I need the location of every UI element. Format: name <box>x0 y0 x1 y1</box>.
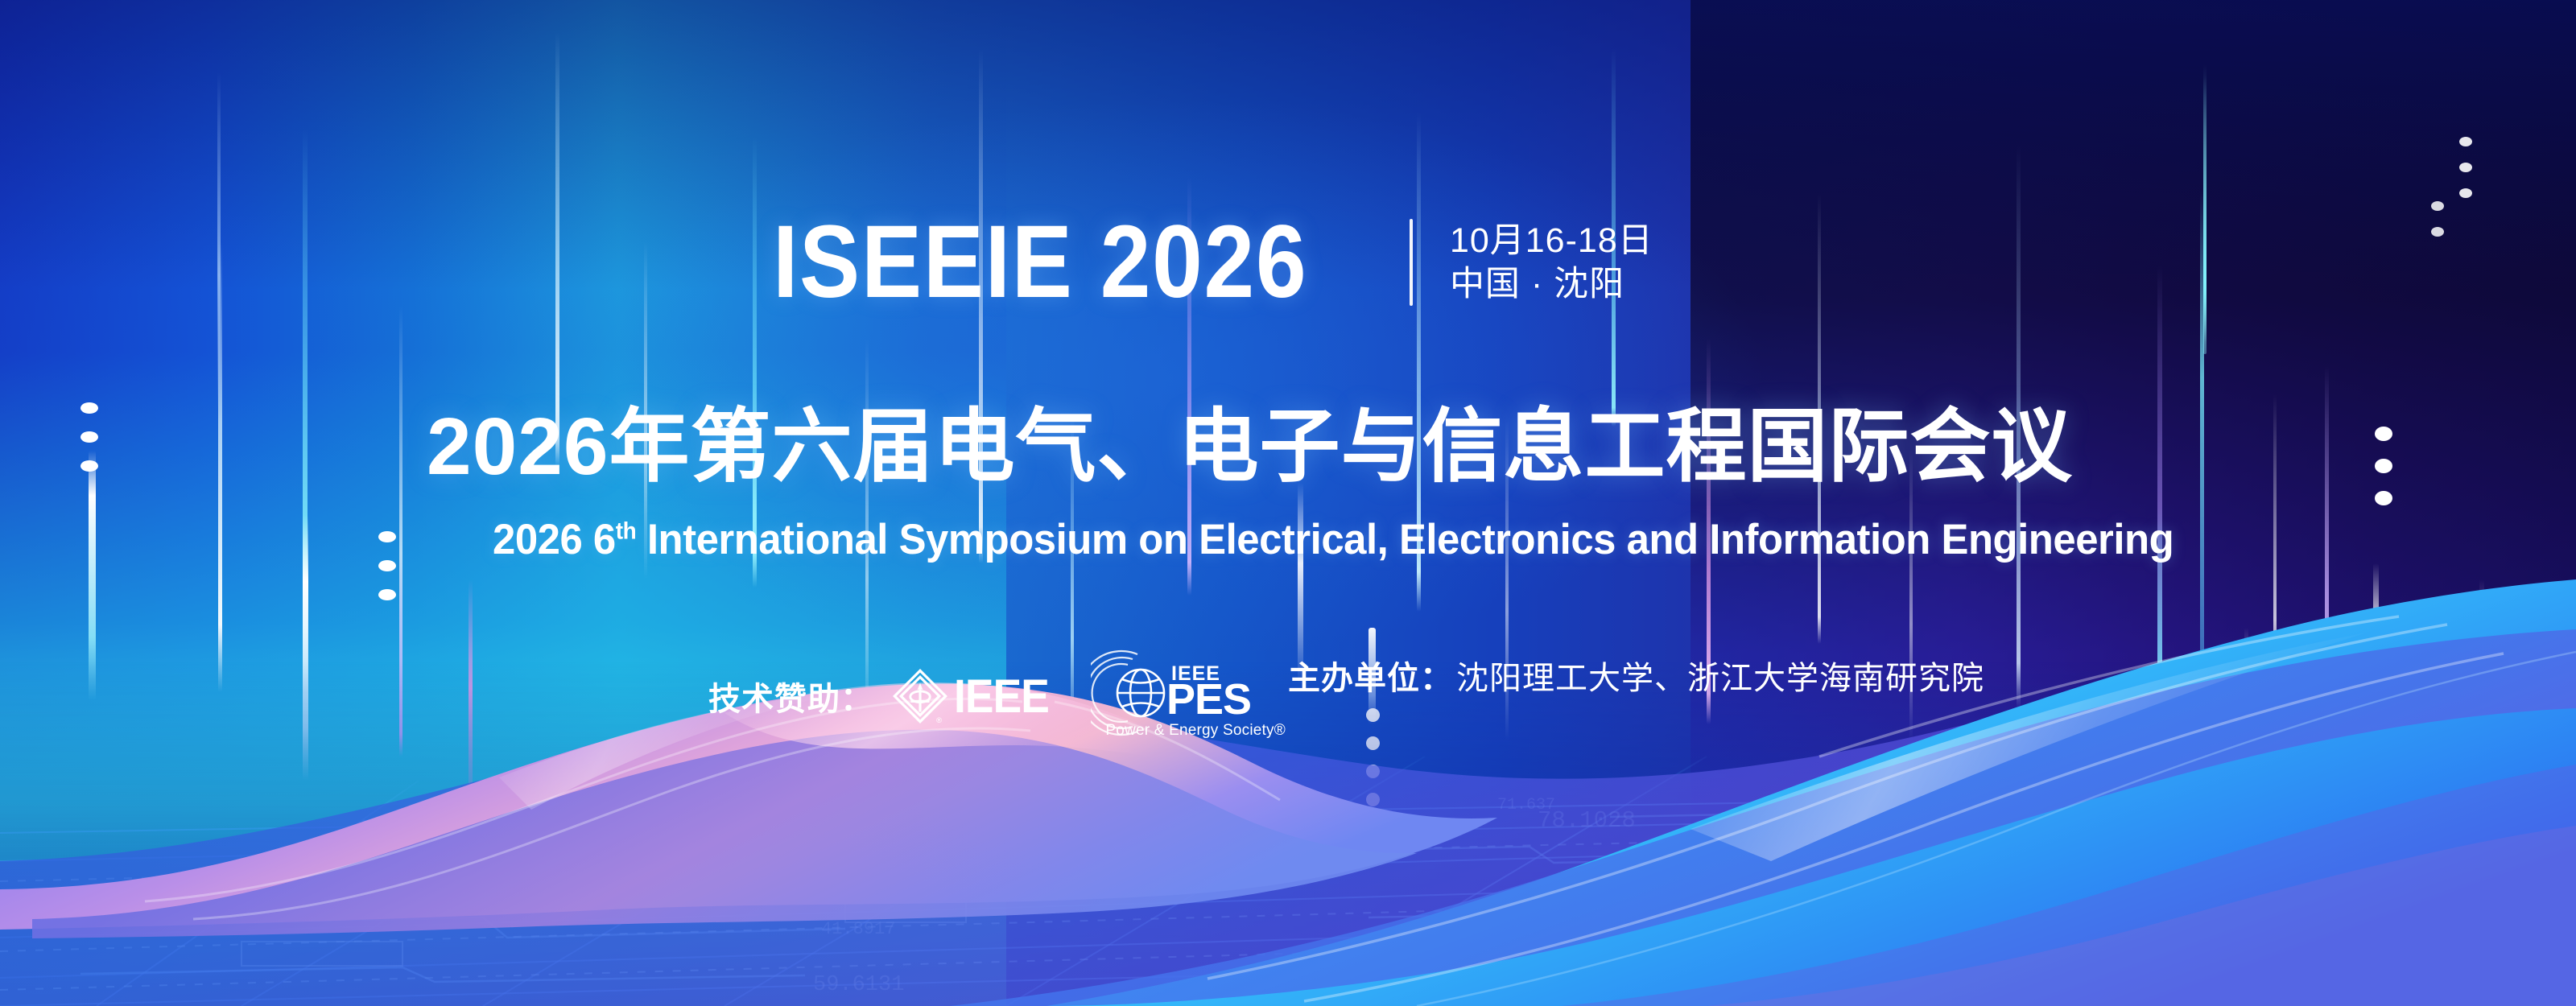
title-en-ordinal: th <box>616 518 636 544</box>
conference-title-cn: 2026年第六届电气、电子与信息工程国际会议 <box>427 402 2198 491</box>
page-title: ISEEIE 2026 <box>773 211 1307 314</box>
conference-title-en: 2026 6th International Symposium on Elec… <box>493 515 2116 564</box>
title-row: ISEEIE 2026 10月16-18日 中国 · 沈阳 <box>773 211 1653 314</box>
ieee-pes-logo[interactable]: IEEE PES Power & Energy Society® <box>1091 648 1276 744</box>
title-en-rest: International Symposium on Electrical, E… <box>636 516 2173 563</box>
conference-date: 10月16-18日 <box>1450 219 1653 262</box>
ieee-wordmark: IEEE <box>954 670 1049 724</box>
pes-caption: Power & Energy Society® <box>1099 722 1292 740</box>
ieee-diamond-icon: ® <box>891 667 949 725</box>
svg-text:®: ® <box>936 716 942 724</box>
date-location-block: 10月16-18日 中国 · 沈阳 <box>1450 219 1653 306</box>
conference-location: 中国 · 沈阳 <box>1450 262 1653 306</box>
conference-banner: 79.0941 78.8388 53.8997 41.8917 59.6131 … <box>0 0 2576 1006</box>
host-value: 沈阳理工大学、浙江大学海南研究院 <box>1456 652 1984 699</box>
title-divider <box>1410 219 1413 306</box>
host-label: 主办单位： <box>1288 652 1453 699</box>
svg-text:PES: PES <box>1166 675 1251 724</box>
sponsor-row: 技术赞助： ® IEEE <box>708 648 1276 744</box>
ieee-logo[interactable]: ® IEEE <box>891 667 1057 725</box>
title-en-prefix: 2026 6 <box>493 516 616 563</box>
host-row: 主办单位： 沈阳理工大学、浙江大学海南研究院 <box>1288 652 1984 699</box>
sponsor-label: 技术赞助： <box>708 673 873 719</box>
